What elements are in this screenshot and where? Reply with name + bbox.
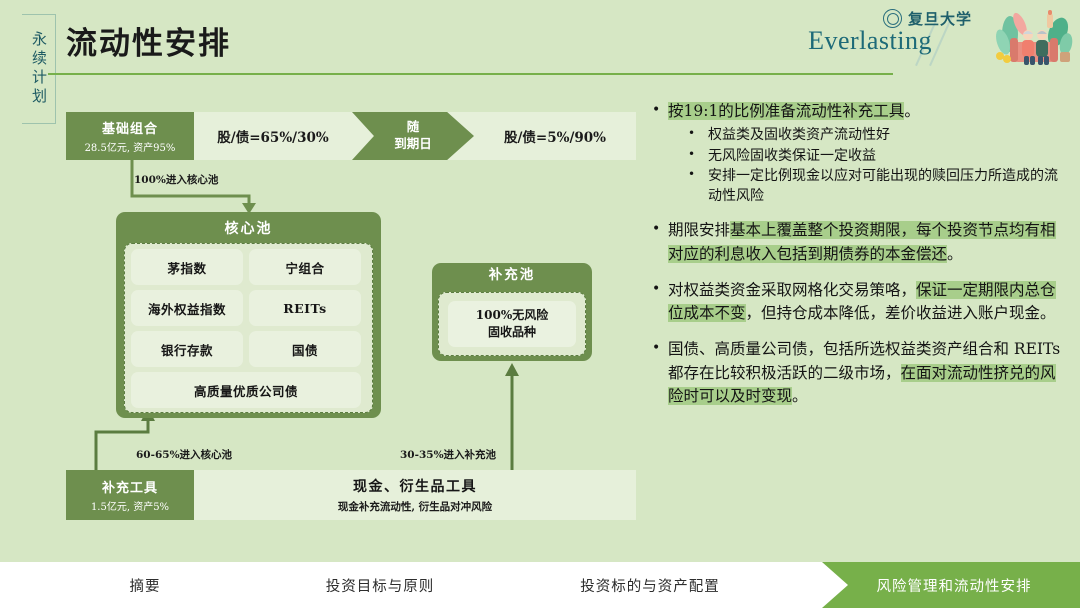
bullet-group: •国债、高质量公司债，包括所选权益类资产组合和 REITs 都存在比较积极活跃的… — [652, 338, 1064, 408]
bullet-item-level1: •期限安排基本上覆盖整个投资期限，每个投资节点均有相对应的利息收入包括到期债券的… — [652, 219, 1064, 266]
core-pool-card: 核心池 茅指数宁组合海外权益指数REITs银行存款国债高质量优质公司债 — [116, 212, 381, 418]
base-portfolio-box: 基础组合 28.5亿元, 资产95% — [66, 112, 194, 160]
connector-label-to-supp-3035: 30-35%进入补充池 — [400, 447, 496, 462]
bullet-text-level1: 对权益类资金采取网格化交易策咯，保证一定期限内总仓位成本不变，但持仓成本降低，差… — [668, 279, 1064, 326]
bullet-dot-icon: • — [652, 219, 668, 240]
core-pool-asset-item: 海外权益指数 — [131, 290, 243, 326]
supplement-pool-item: 100%无风险 固收品种 — [448, 301, 576, 347]
bullet-text-level2: 安排一定比例现金以应对可能出现的赎回压力所造成的流动性风险 — [708, 166, 1064, 207]
allocation-flow-bar: 基础组合 28.5亿元, 资产95% 股/债=65%/30% 随 到期日 股/债… — [66, 112, 636, 160]
ratio-label-end: 股/债=5%/90% — [474, 112, 636, 160]
bullet-text-level1: 按19:1的比例准备流动性补充工具。 — [668, 100, 1064, 123]
bullet-group: •期限安排基本上覆盖整个投资期限，每个投资节点均有相对应的利息收入包括到期债券的… — [652, 219, 1064, 266]
bullet-sublist: •权益类及固收类资产流动性好•无风险固收类保证一定收益•安排一定比例现金以应对可… — [652, 125, 1064, 206]
base-portfolio-subtitle: 28.5亿元, 资产95% — [66, 139, 194, 154]
bullet-item-level2: •无风险固收类保证一定收益 — [688, 146, 1064, 166]
body-text: 对权益类资金采取网格化交易策咯， — [668, 281, 916, 299]
bullet-item-level1: •按19:1的比例准备流动性补充工具。 — [652, 100, 1064, 123]
body-text: ，但持仓成本降低，差价收益进入账户现金。 — [746, 304, 1056, 322]
core-pool-asset-item: 国债 — [249, 331, 361, 367]
core-pool-asset-item: 茅指数 — [131, 249, 243, 285]
bullet-dot-icon: • — [652, 100, 668, 121]
bullet-text-level2: 无风险固收类保证一定收益 — [708, 146, 1064, 166]
bullet-dot-icon: • — [688, 125, 708, 142]
brand-cluster: 复旦大学 Everlasting — [765, 6, 980, 70]
connector-label-to-core-6065: 60-65%进入核心池 — [136, 447, 232, 462]
body-text: 。 — [792, 387, 808, 405]
side-tab-plan-name: 永续计划 — [22, 14, 56, 124]
liquidity-notes-panel: •按19:1的比例准备流动性补充工具。•权益类及固收类资产流动性好•无风险固收类… — [652, 100, 1064, 421]
body-text: 期限安排 — [668, 221, 730, 239]
bullet-dot-icon: • — [652, 338, 668, 359]
footer-nav-item[interactable]: 投资标的与资产配置 — [510, 562, 790, 608]
supplement-pool-inner: 100%无风险 固收品种 — [438, 292, 586, 356]
bullet-text-level1: 国债、高质量公司债，包括所选权益类资产组合和 REITs 都存在比较积极活跃的二… — [668, 338, 1064, 408]
supplement-pool-card: 补充池 100%无风险 固收品种 — [432, 263, 592, 361]
footer-nav-item[interactable]: 投资目标与原则 — [265, 562, 495, 608]
maturity-chevron-line1: 随 — [352, 119, 474, 136]
bullet-item-level2: •权益类及固收类资产流动性好 — [688, 125, 1064, 145]
bullet-group: •按19:1的比例准备流动性补充工具。•权益类及固收类资产流动性好•无风险固收类… — [652, 100, 1064, 206]
supplement-item-line2: 固收品种 — [488, 324, 536, 341]
bullet-item-level1: •国债、高质量公司债，包括所选权益类资产组合和 REITs 都存在比较积极活跃的… — [652, 338, 1064, 408]
elderly-couple-sofa-illustration — [990, 4, 1076, 72]
core-pool-asset-item: 宁组合 — [249, 249, 361, 285]
cash-derivatives-block: 现金、衍生品工具 现金补充流动性, 衍生品对冲风险 — [194, 470, 636, 520]
core-pool-asset-item: 银行存款 — [131, 331, 243, 367]
footer-nav: 摘要投资目标与原则投资标的与资产配置风险管理和流动性安排 — [0, 562, 1080, 608]
page-title: 流动性安排 — [66, 18, 231, 63]
body-text: 安排一定比例现金以应对可能出现的赎回压力所造成的流动性风险 — [708, 168, 1058, 204]
base-portfolio-title: 基础组合 — [66, 118, 194, 137]
core-pool-title: 核心池 — [120, 216, 377, 242]
liquidity-tools-bar: 补充工具 1.5亿元, 资产5% 现金、衍生品工具 现金补充流动性, 衍生品对冲… — [66, 470, 636, 520]
cash-derivatives-title: 现金、衍生品工具 — [353, 476, 477, 496]
bullet-group: •对权益类资金采取网格化交易策咯，保证一定期限内总仓位成本不变，但持仓成本降低，… — [652, 279, 1064, 326]
core-pool-asset-list: 茅指数宁组合海外权益指数REITs银行存款国债高质量优质公司债 — [124, 243, 373, 413]
body-text: 权益类及固收类资产流动性好 — [708, 127, 890, 143]
body-text: 无风险固收类保证一定收益 — [708, 148, 876, 164]
bullet-dot-icon: • — [688, 166, 708, 183]
maturity-chevron: 随 到期日 — [352, 112, 474, 160]
supplement-pool-title: 补充池 — [432, 263, 592, 288]
supplement-item-line1: 100%无风险 — [476, 307, 548, 324]
footer-nav-inner: 摘要投资目标与原则投资标的与资产配置风险管理和流动性安排 — [0, 562, 1080, 608]
bullet-text-level2: 权益类及固收类资产流动性好 — [708, 125, 1064, 145]
body-text: 。 — [947, 245, 963, 263]
cash-derivatives-subtitle: 现金补充流动性, 衍生品对冲风险 — [338, 499, 492, 514]
connector-label-to-core-100: 100%进入核心池 — [134, 172, 218, 187]
core-pool-asset-item: 高质量优质公司债 — [131, 372, 361, 408]
footer-nav-item-active[interactable]: 风险管理和流动性安排 — [800, 562, 1080, 608]
bullet-item-level1: •对权益类资金采取网格化交易策咯，保证一定期限内总仓位成本不变，但持仓成本降低，… — [652, 279, 1064, 326]
everlasting-wordmark: Everlasting — [808, 26, 932, 56]
side-tab-label: 永续计划 — [31, 31, 46, 107]
bullet-dot-icon: • — [652, 279, 668, 300]
supplement-tool-box: 补充工具 1.5亿元, 资产5% — [66, 470, 194, 520]
footer-nav-item[interactable]: 摘要 — [60, 562, 230, 608]
highlighted-text: 按19:1的比例准备流动性补充工具 — [668, 102, 904, 120]
slide-canvas: 永续计划 流动性安排 复旦大学 Everlasting — [0, 0, 1080, 608]
bullet-item-level2: •安排一定比例现金以应对可能出现的赎回压力所造成的流动性风险 — [688, 166, 1064, 207]
supplement-tool-title: 补充工具 — [66, 477, 194, 496]
bullet-text-level1: 期限安排基本上覆盖整个投资期限，每个投资节点均有相对应的利息收入包括到期债券的本… — [668, 219, 1064, 266]
body-text: 。 — [904, 102, 920, 120]
ratio-label-start: 股/债=65%/30% — [194, 112, 352, 160]
supplement-tool-subtitle: 1.5亿元, 资产5% — [66, 498, 194, 513]
title-divider — [48, 73, 893, 75]
bullet-dot-icon: • — [688, 146, 708, 163]
core-pool-asset-item: REITs — [249, 290, 361, 326]
maturity-chevron-line2: 到期日 — [352, 136, 474, 153]
